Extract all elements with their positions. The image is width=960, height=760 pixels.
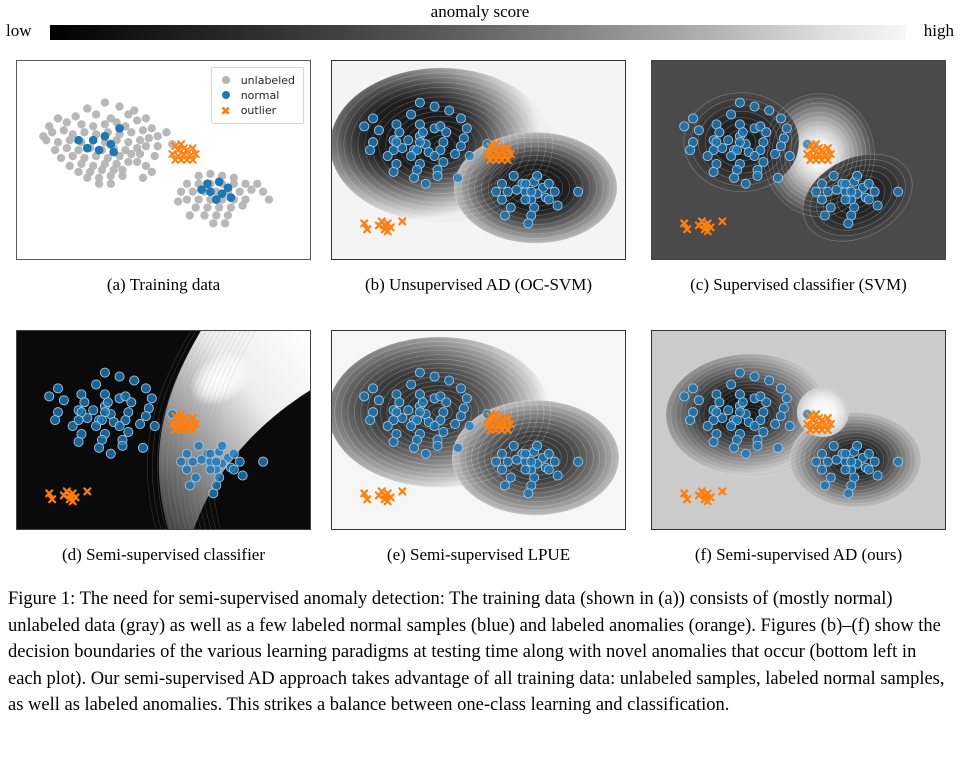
data-point xyxy=(844,489,853,498)
data-point xyxy=(873,201,882,210)
data-point xyxy=(465,421,474,430)
data-point xyxy=(395,398,404,407)
data-point xyxy=(686,416,695,425)
data-point xyxy=(136,150,144,158)
data-point xyxy=(521,195,530,204)
data-point xyxy=(80,128,88,136)
data-point xyxy=(853,171,862,180)
data-point xyxy=(445,106,454,115)
data-point xyxy=(229,449,238,458)
data-point xyxy=(724,406,733,415)
data-point xyxy=(183,180,191,188)
data-point xyxy=(823,187,832,196)
data-point xyxy=(735,98,744,107)
data-point xyxy=(864,449,873,458)
data-point xyxy=(54,138,62,146)
data-point xyxy=(133,158,141,166)
data-point xyxy=(894,187,903,196)
data-point xyxy=(404,136,413,145)
panel-e-plot xyxy=(332,331,625,529)
data-point xyxy=(492,457,501,466)
panel-f-semi-supervised-ad xyxy=(651,330,946,530)
data-point xyxy=(497,449,506,458)
data-point xyxy=(864,195,873,204)
data-point xyxy=(826,473,835,482)
data-point xyxy=(212,211,220,219)
data-point xyxy=(147,394,156,403)
data-point xyxy=(703,421,712,430)
figure-caption: Figure 1: The need for semi-supervised a… xyxy=(8,586,954,719)
data-point xyxy=(694,396,703,405)
data-point xyxy=(553,201,562,210)
data-point xyxy=(409,173,418,182)
data-point xyxy=(150,421,159,430)
data-point xyxy=(688,114,697,123)
data-point xyxy=(238,471,247,480)
data-point xyxy=(77,120,85,128)
data-point xyxy=(227,193,236,202)
data-point xyxy=(186,211,194,219)
data-point xyxy=(735,368,744,377)
data-point xyxy=(497,195,506,204)
data-point xyxy=(148,124,156,132)
data-point xyxy=(142,114,150,122)
data-point xyxy=(136,136,144,144)
data-point xyxy=(206,187,215,196)
data-point xyxy=(130,106,138,114)
data-point xyxy=(829,171,838,180)
data-point xyxy=(841,179,850,188)
data-point xyxy=(527,457,536,466)
caption-b: (b) Unsupervised AD (OC-SVM) xyxy=(331,275,626,295)
data-point xyxy=(574,457,583,466)
panel-c-supervised-classifier xyxy=(651,60,946,260)
data-point xyxy=(503,187,512,196)
data-point xyxy=(524,489,533,498)
data-point xyxy=(185,481,194,490)
data-point xyxy=(694,126,703,135)
data-point xyxy=(738,398,747,407)
data-point xyxy=(80,398,89,407)
caption-a: (a) Training data xyxy=(16,275,311,295)
data-point xyxy=(45,122,53,130)
panel-d-semi-supervised-classifier xyxy=(16,330,311,530)
data-point xyxy=(453,443,462,452)
data-point xyxy=(241,180,249,188)
data-point xyxy=(229,465,238,474)
data-point xyxy=(259,188,267,196)
data-point xyxy=(215,177,224,186)
data-point xyxy=(374,126,383,135)
data-point xyxy=(191,473,200,482)
data-point xyxy=(738,128,747,137)
data-point xyxy=(462,124,471,133)
normal-marker-icon xyxy=(218,88,234,103)
data-point xyxy=(124,158,132,166)
data-point xyxy=(383,151,392,160)
data-point xyxy=(873,471,882,480)
data-point xyxy=(118,441,127,450)
data-point xyxy=(750,102,759,111)
data-point xyxy=(680,122,689,131)
data-point xyxy=(142,142,150,150)
data-point xyxy=(182,465,191,474)
data-point xyxy=(817,465,826,474)
data-point xyxy=(521,449,530,458)
data-point xyxy=(212,457,221,466)
data-point xyxy=(453,173,462,182)
data-point xyxy=(709,167,718,176)
data-point xyxy=(456,412,465,421)
data-point xyxy=(841,449,850,458)
data-point xyxy=(130,376,139,385)
colorbar-low-label: low xyxy=(6,21,32,41)
data-point xyxy=(106,140,115,149)
data-point xyxy=(724,136,733,145)
data-point xyxy=(688,384,697,393)
data-point xyxy=(60,126,68,134)
data-point xyxy=(765,106,774,115)
data-point xyxy=(785,151,794,160)
data-point xyxy=(762,128,771,137)
data-point xyxy=(765,376,774,385)
data-point xyxy=(753,171,762,180)
data-point xyxy=(521,465,530,474)
data-point xyxy=(194,172,202,180)
data-point xyxy=(139,126,147,134)
data-point xyxy=(506,473,515,482)
data-point xyxy=(465,151,474,160)
data-point xyxy=(820,211,829,220)
data-point xyxy=(395,128,404,137)
data-point xyxy=(544,449,553,458)
data-point xyxy=(847,187,856,196)
data-point xyxy=(71,112,79,120)
data-point xyxy=(203,203,211,211)
data-point xyxy=(253,180,261,188)
data-point xyxy=(524,219,533,228)
data-point xyxy=(782,394,791,403)
data-point xyxy=(853,441,862,450)
data-point xyxy=(759,157,768,166)
data-point xyxy=(544,195,553,204)
data-point xyxy=(389,437,398,446)
colorbar-title: anomaly score xyxy=(0,2,960,22)
data-point xyxy=(703,151,712,160)
data-point xyxy=(74,146,82,154)
data-point xyxy=(54,114,62,122)
data-point xyxy=(415,368,424,377)
data-point xyxy=(407,110,416,119)
data-point xyxy=(497,179,506,188)
data-point xyxy=(439,157,448,166)
data-point xyxy=(527,187,536,196)
data-point xyxy=(450,150,459,159)
data-point xyxy=(870,457,879,466)
data-point xyxy=(500,481,509,490)
data-point xyxy=(832,185,841,194)
legend-label-outlier: outlier xyxy=(241,103,276,118)
data-point xyxy=(741,179,750,188)
data-point xyxy=(421,449,430,458)
data-point xyxy=(53,384,62,393)
data-point xyxy=(224,211,232,219)
data-point xyxy=(63,144,71,152)
data-point xyxy=(844,219,853,228)
data-point xyxy=(135,420,144,429)
data-point xyxy=(727,421,736,430)
data-point xyxy=(101,120,109,128)
data-point xyxy=(194,441,203,450)
data-point xyxy=(415,98,424,107)
unlabeled-marker-icon xyxy=(218,73,234,88)
data-point xyxy=(148,168,156,176)
data-point xyxy=(115,102,123,110)
data-point xyxy=(107,172,115,180)
data-point xyxy=(894,457,903,466)
panel-c-plot xyxy=(652,61,945,259)
data-point xyxy=(750,421,759,430)
data-point xyxy=(174,197,182,205)
legend: unlabeled normal ✖ outlier xyxy=(211,67,304,124)
panel-e-semi-supervised-lpue xyxy=(331,330,626,530)
data-point xyxy=(430,421,439,430)
data-point xyxy=(106,449,115,458)
data-point xyxy=(544,465,553,474)
data-point xyxy=(153,132,161,140)
data-point xyxy=(63,118,71,126)
data-point xyxy=(45,392,54,401)
data-point xyxy=(162,128,170,136)
outlier-points-a xyxy=(169,141,198,163)
data-point xyxy=(200,211,208,219)
data-point xyxy=(89,136,98,145)
data-point xyxy=(139,174,147,182)
legend-item-unlabeled: unlabeled xyxy=(218,73,295,88)
data-point xyxy=(92,421,101,430)
data-point xyxy=(686,146,695,155)
data-point xyxy=(177,188,185,196)
data-point xyxy=(133,116,141,124)
data-point xyxy=(182,449,191,458)
data-point xyxy=(404,406,413,415)
legend-label-unlabeled: unlabeled xyxy=(241,73,295,88)
data-point xyxy=(433,441,442,450)
data-point xyxy=(553,471,562,480)
panel-d-plot xyxy=(17,331,310,529)
data-point xyxy=(812,187,821,196)
data-point xyxy=(773,173,782,182)
data-point xyxy=(729,443,738,452)
data-point xyxy=(389,167,398,176)
data-point xyxy=(442,398,451,407)
data-point xyxy=(521,179,530,188)
data-point xyxy=(753,441,762,450)
data-point xyxy=(430,102,439,111)
data-point xyxy=(95,180,103,188)
outlier-marker-icon: ✖ xyxy=(218,105,234,117)
data-point xyxy=(729,173,738,182)
data-point xyxy=(235,457,244,466)
data-point xyxy=(509,441,518,450)
data-point xyxy=(92,110,100,118)
data-point xyxy=(407,421,416,430)
data-point xyxy=(785,421,794,430)
data-point xyxy=(95,146,104,155)
panel-a-training-data: unlabeled normal ✖ outlier xyxy=(16,60,311,260)
data-point xyxy=(817,449,826,458)
caption-c: (c) Supervised classifier (SVM) xyxy=(651,275,946,295)
data-point xyxy=(750,372,759,381)
data-point xyxy=(512,455,521,464)
data-point xyxy=(750,151,759,160)
data-point xyxy=(83,144,92,153)
data-point xyxy=(74,168,82,176)
data-point xyxy=(817,195,826,204)
data-point xyxy=(98,166,106,174)
data-point xyxy=(383,421,392,430)
data-point xyxy=(153,142,161,150)
data-point xyxy=(142,162,150,170)
data-point xyxy=(368,384,377,393)
data-point xyxy=(870,187,879,196)
data-point xyxy=(141,384,150,393)
data-point xyxy=(236,188,244,196)
data-point xyxy=(456,142,465,151)
data-point xyxy=(727,151,736,160)
data-point xyxy=(127,128,135,136)
data-point xyxy=(141,412,150,421)
data-point xyxy=(759,427,768,436)
data-point xyxy=(74,136,83,145)
data-point xyxy=(418,128,427,137)
data-point xyxy=(218,441,227,450)
data-point xyxy=(776,142,785,151)
panel-f-plot xyxy=(652,331,945,529)
data-point xyxy=(709,437,718,446)
data-point xyxy=(118,172,126,180)
data-point xyxy=(107,180,115,188)
data-point xyxy=(115,124,124,133)
data-point xyxy=(89,122,97,130)
panel-b-unsupervised-ad xyxy=(331,60,626,260)
data-point xyxy=(51,146,59,154)
data-point xyxy=(109,148,118,157)
data-point xyxy=(544,179,553,188)
caption-d: (d) Semi-supervised classifier xyxy=(16,545,311,565)
data-point xyxy=(103,398,112,407)
caption-e: (e) Semi-supervised LPUE xyxy=(331,545,626,565)
data-point xyxy=(366,416,375,425)
data-point xyxy=(776,384,785,393)
data-point xyxy=(194,195,202,203)
data-point xyxy=(841,465,850,474)
data-point xyxy=(823,457,832,466)
data-point xyxy=(456,114,465,123)
data-point xyxy=(409,443,418,452)
data-point xyxy=(847,457,856,466)
data-point xyxy=(727,380,736,389)
data-point xyxy=(68,421,77,430)
data-point xyxy=(145,134,153,142)
colorbar-gradient xyxy=(50,25,906,40)
data-point xyxy=(442,128,451,137)
data-point xyxy=(812,457,821,466)
data-point xyxy=(197,185,206,194)
data-point xyxy=(407,380,416,389)
data-point xyxy=(206,449,215,458)
data-point xyxy=(368,114,377,123)
data-point xyxy=(115,421,124,430)
data-point xyxy=(450,420,459,429)
data-point xyxy=(124,138,132,146)
data-point xyxy=(189,188,197,196)
data-point xyxy=(238,201,246,209)
legend-label-normal: normal xyxy=(241,88,280,103)
data-point xyxy=(680,392,689,401)
data-point xyxy=(418,398,427,407)
data-point xyxy=(124,427,133,436)
data-point xyxy=(421,179,430,188)
data-point xyxy=(83,174,91,182)
colorbar-high-label: high xyxy=(924,21,954,41)
data-point xyxy=(430,372,439,381)
panel-b-plot xyxy=(332,61,625,259)
data-point xyxy=(227,203,235,211)
data-point xyxy=(509,171,518,180)
data-point xyxy=(247,186,255,194)
data-point xyxy=(265,195,273,203)
data-point xyxy=(727,110,736,119)
data-point xyxy=(212,195,221,204)
data-point xyxy=(374,396,383,405)
data-point xyxy=(715,128,724,137)
data-point xyxy=(407,151,416,160)
data-point xyxy=(366,146,375,155)
data-point xyxy=(197,455,206,464)
data-point xyxy=(215,203,223,211)
data-point xyxy=(430,151,439,160)
data-point xyxy=(51,416,60,425)
data-point xyxy=(209,219,217,227)
data-point xyxy=(39,132,47,140)
data-point xyxy=(177,457,186,466)
data-point xyxy=(826,203,835,212)
data-point xyxy=(57,154,65,162)
data-point xyxy=(433,171,442,180)
colorbar-block: anomaly score low high xyxy=(0,0,960,48)
data-point xyxy=(100,368,109,377)
data-point xyxy=(820,481,829,490)
data-point xyxy=(503,457,512,466)
data-point xyxy=(192,203,200,211)
data-point xyxy=(550,187,559,196)
data-point xyxy=(59,396,68,405)
data-point xyxy=(512,185,521,194)
data-point xyxy=(115,372,124,381)
data-point xyxy=(500,211,509,220)
data-point xyxy=(209,489,218,498)
data-point xyxy=(206,170,214,178)
data-point xyxy=(715,398,724,407)
data-point xyxy=(773,443,782,452)
data-point xyxy=(456,384,465,393)
data-point xyxy=(864,465,873,474)
caption-f: (f) Semi-supervised AD (ours) xyxy=(651,545,946,565)
data-point xyxy=(127,398,136,407)
data-point xyxy=(782,124,791,133)
data-point xyxy=(574,187,583,196)
